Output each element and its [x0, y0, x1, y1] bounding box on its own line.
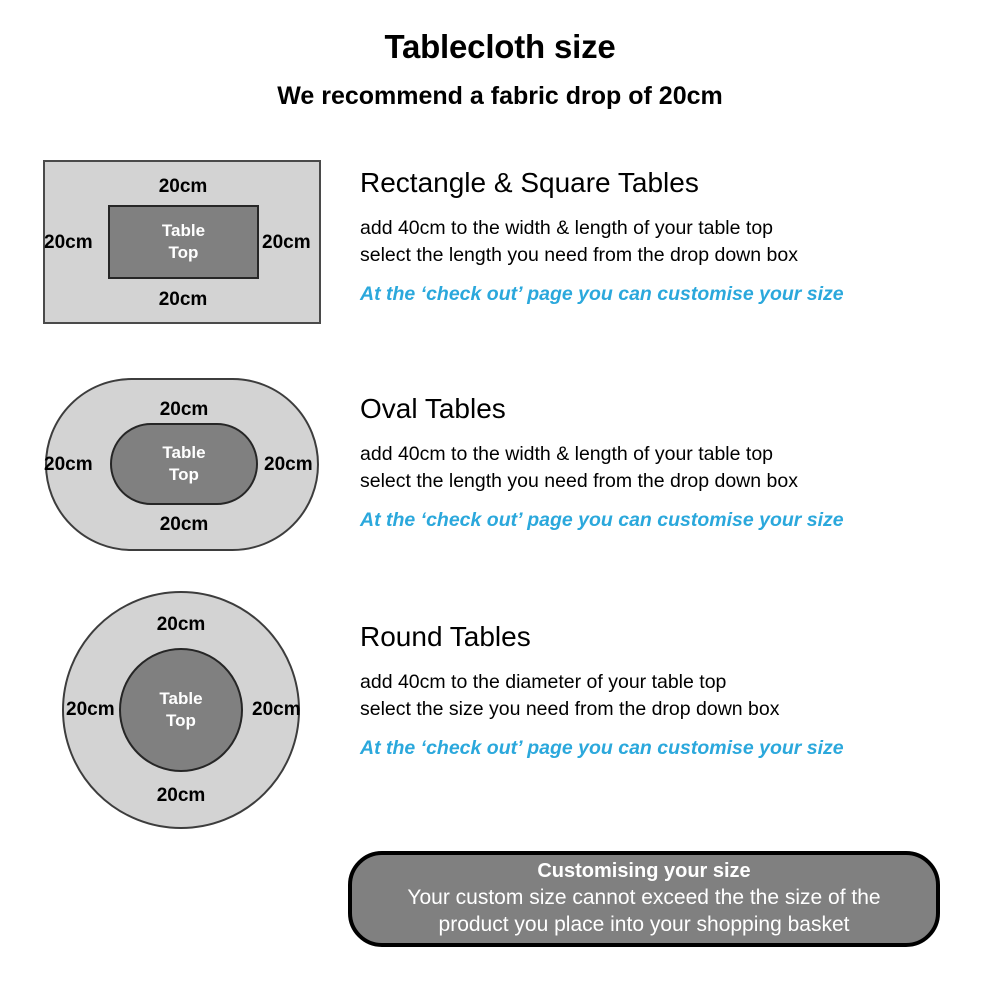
rectangle-drop-label-right: 20cm: [262, 233, 311, 252]
rectangle-heading: Rectangle & Square Tables: [360, 168, 980, 199]
rectangle-table-top-line1: Table: [162, 221, 205, 240]
oval-drop-label-left: 20cm: [44, 455, 93, 474]
rectangle-table-top: Table Top: [108, 205, 259, 279]
oval-instruction-1: add 40cm to the width & length of your t…: [360, 441, 980, 468]
round-instruction-2: select the size you need from the drop d…: [360, 696, 980, 723]
oval-text-block: Oval Tables add 40cm to the width & leng…: [360, 394, 980, 532]
rectangle-drop-label-top: 20cm: [0, 177, 366, 196]
customising-size-banner: Customising your size Your custom size c…: [348, 851, 940, 947]
round-table-top-line1: Table: [159, 689, 202, 708]
rectangle-text-block: Rectangle & Square Tables add 40cm to th…: [360, 168, 980, 306]
rectangle-table-top-line2: Top: [169, 243, 199, 262]
rectangle-checkout-note: At the ‘check out’ page you can customis…: [360, 283, 980, 306]
banner-title: Customising your size: [537, 860, 750, 884]
oval-table-top-line2: Top: [169, 465, 199, 484]
oval-instruction-2: select the length you need from the drop…: [360, 468, 980, 495]
oval-checkout-note: At the ‘check out’ page you can customis…: [360, 509, 980, 532]
oval-drop-label-bottom: 20cm: [0, 515, 368, 534]
round-drop-label-bottom: 20cm: [0, 786, 362, 805]
oval-table-top-label: Table Top: [162, 442, 205, 486]
rectangle-table-top-label: Table Top: [162, 220, 205, 264]
round-table-top-label: Table Top: [159, 688, 202, 732]
banner-line-2: product you place into your shopping bas…: [439, 911, 850, 938]
round-drop-label-top: 20cm: [0, 615, 362, 634]
oval-drop-label-right: 20cm: [264, 455, 313, 474]
round-heading: Round Tables: [360, 622, 980, 653]
round-instruction-1: add 40cm to the diameter of your table t…: [360, 669, 980, 696]
rectangle-instruction-2: select the length you need from the drop…: [360, 242, 980, 269]
round-checkout-note: At the ‘check out’ page you can customis…: [360, 737, 980, 760]
rectangle-instruction-1: add 40cm to the width & length of your t…: [360, 215, 980, 242]
oval-drop-label-top: 20cm: [0, 400, 368, 419]
page-title: Tablecloth size: [0, 28, 1000, 66]
rectangle-drop-label-left: 20cm: [44, 233, 93, 252]
round-table-top: Table Top: [119, 648, 243, 772]
rectangle-drop-label-bottom: 20cm: [0, 290, 366, 309]
banner-line-1: Your custom size cannot exceed the the s…: [407, 884, 880, 911]
round-drop-label-left: 20cm: [66, 700, 115, 719]
round-drop-label-right: 20cm: [252, 700, 301, 719]
round-table-top-line2: Top: [166, 711, 196, 730]
oval-heading: Oval Tables: [360, 394, 980, 425]
oval-table-top: Table Top: [110, 423, 258, 505]
oval-table-top-line1: Table: [162, 443, 205, 462]
page-subtitle: We recommend a fabric drop of 20cm: [0, 82, 1000, 111]
round-text-block: Round Tables add 40cm to the diameter of…: [360, 622, 980, 760]
